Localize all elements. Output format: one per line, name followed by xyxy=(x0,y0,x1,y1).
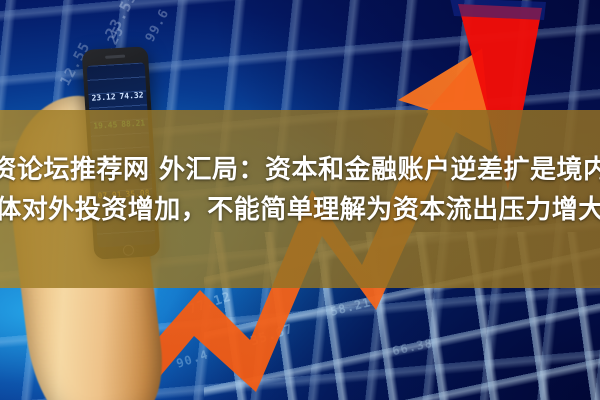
news-thumbnail: 23.55 99.6 83.25 12.55 46.30 77.12 35.67… xyxy=(0,0,600,400)
phone-speaker-icon xyxy=(105,55,125,59)
headline-text: 配资论坛推荐网 外汇局：资本和金融账户逆差扩是境内主体对外投资增加，不能简单理解… xyxy=(0,150,600,230)
phone-quote-value: 74.32 xyxy=(119,91,144,101)
phone-quote-value: 23.12 xyxy=(91,92,116,102)
